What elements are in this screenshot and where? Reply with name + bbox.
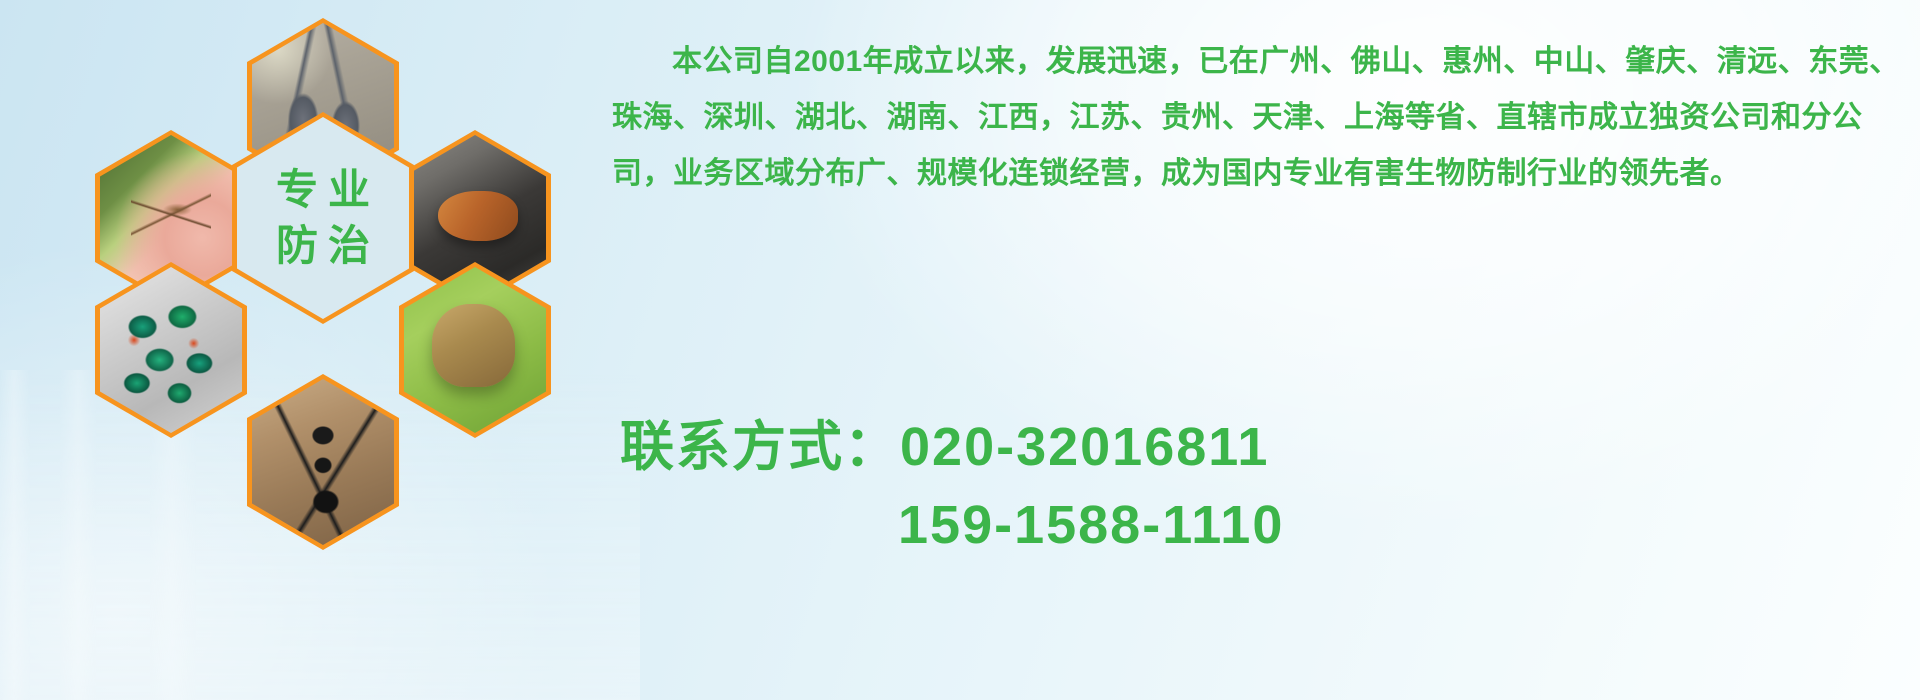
honeycomb-photo-cluster: 专业 防治 bbox=[95, 18, 575, 558]
contact-block: 联系方式：020-32016811 159-1588-1110 bbox=[620, 408, 1920, 564]
stinkbug-photo bbox=[404, 267, 546, 433]
hex-inner bbox=[100, 267, 242, 433]
flies-photo bbox=[100, 267, 242, 433]
center-label-line1: 专业 bbox=[266, 169, 380, 211]
hex-inner bbox=[404, 267, 546, 433]
ant-photo bbox=[252, 379, 394, 545]
hex-cell-flies[interactable] bbox=[95, 262, 247, 438]
center-label-line2: 防治 bbox=[266, 225, 380, 267]
hex-inner bbox=[252, 379, 394, 545]
company-description-text: 本公司自2001年成立以来，发展迅速，已在广州、佛山、惠州、中山、肇庆、清远、东… bbox=[612, 34, 1908, 202]
hex-cell-ant[interactable] bbox=[247, 374, 399, 550]
contact-line-landline[interactable]: 联系方式：020-32016811 bbox=[620, 408, 1920, 486]
center-label: 专业 防治 bbox=[237, 117, 409, 319]
promo-banner: 专业 防治 本公司自2001年成立以来，发展迅速，已在广州、佛山、惠州、中 bbox=[0, 0, 1920, 700]
hex-cell-stinkbug[interactable] bbox=[399, 262, 551, 438]
hex-inner: 专业 防治 bbox=[237, 117, 409, 319]
contact-line-mobile[interactable]: 159-1588-1110 bbox=[620, 486, 1920, 564]
company-description: 本公司自2001年成立以来，发展迅速，已在广州、佛山、惠州、中山、肇庆、清远、东… bbox=[612, 34, 1908, 202]
